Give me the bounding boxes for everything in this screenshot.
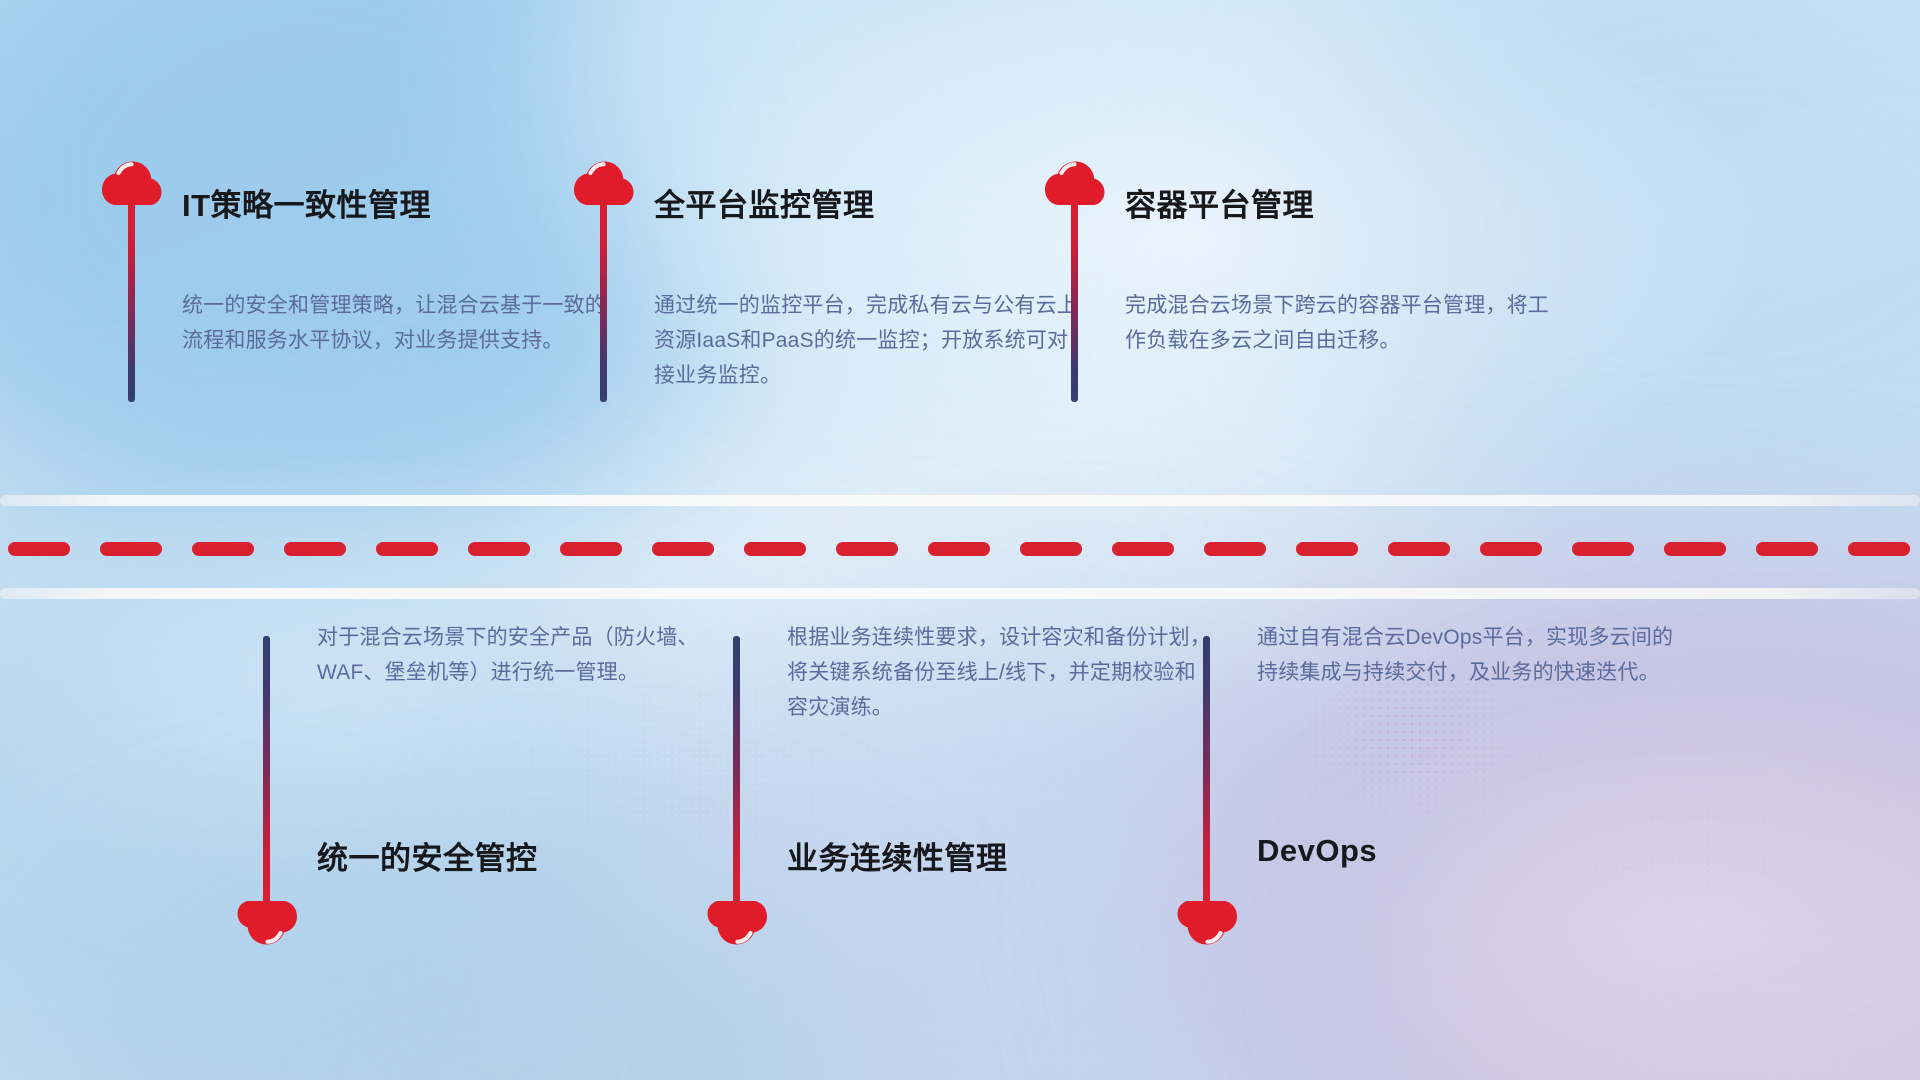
divider-dash-segment [1664,542,1726,556]
feature-body: 完成混合云场景下跨云的容器平台管理，将工作负载在多云之间自由迁移。 [1125,288,1555,358]
divider-dash-segment [744,542,806,556]
divider-dash-segment [1296,542,1358,556]
feature-heading: 容器平台管理 [1125,180,1314,225]
cloud-pin-icon [572,160,636,208]
divider-dash-segment [1572,542,1634,556]
infographic-canvas: IT策略一致性管理 统一的安全和管理策略，让混合云基于一致的流程和服务水平协议，… [0,0,1920,1080]
divider-dash-segment [652,542,714,556]
pin-stem [263,636,270,906]
divider-dash-segment [928,542,990,556]
pin-stem [733,636,740,906]
feature-heading: 统一的安全管控 [317,833,538,878]
divider-dash-segment [1480,542,1542,556]
divider-dash-segment [1112,542,1174,556]
divider-line-bottom [0,588,1920,599]
pin-stem [1071,202,1078,402]
divider-dash-segment [100,542,162,556]
feature-body: 统一的安全和管理策略，让混合云基于一致的流程和服务水平协议，对业务提供支持。 [182,288,612,358]
cloud-pin-icon [100,160,164,208]
feature-body: 通过统一的监控平台，完成私有云与公有云上资源IaaS和PaaS的统一监控；开放系… [654,288,1084,393]
divider-line-top [0,495,1920,506]
divider-dash-segment [1756,542,1818,556]
feature-heading: IT策略一致性管理 [182,180,431,225]
divider-dash-segment [560,542,622,556]
divider-dash-segment [1020,542,1082,556]
cloud-pin-icon [1043,160,1107,208]
divider-dash-segment [468,542,530,556]
feature-body: 对于混合云场景下的安全产品（防火墙、WAF、堡垒机等）进行统一管理。 [317,620,747,690]
divider-dash-segment [1388,542,1450,556]
divider-dash-segment [192,542,254,556]
divider-dash-segment [1848,542,1910,556]
feature-heading: 全平台监控管理 [654,180,875,225]
pin-stem [128,202,135,402]
divider-dash-segment [376,542,438,556]
feature-heading: 业务连续性管理 [787,833,1008,878]
divider-dashed-center [0,542,1920,556]
feature-body: 根据业务连续性要求，设计容灾和备份计划，将关键系统备份至线上/线下，并定期校验和… [787,620,1217,725]
feature-heading: DevOps [1257,833,1377,869]
pin-stem [600,202,607,402]
divider-dash-segment [836,542,898,556]
feature-body: 通过自有混合云DevOps平台，实现多云间的持续集成与持续交付，及业务的快速迭代… [1257,620,1687,690]
divider-dash-segment [1204,542,1266,556]
divider-dash-segment [284,542,346,556]
divider-dash-segment [8,542,70,556]
pin-stem [1203,636,1210,906]
